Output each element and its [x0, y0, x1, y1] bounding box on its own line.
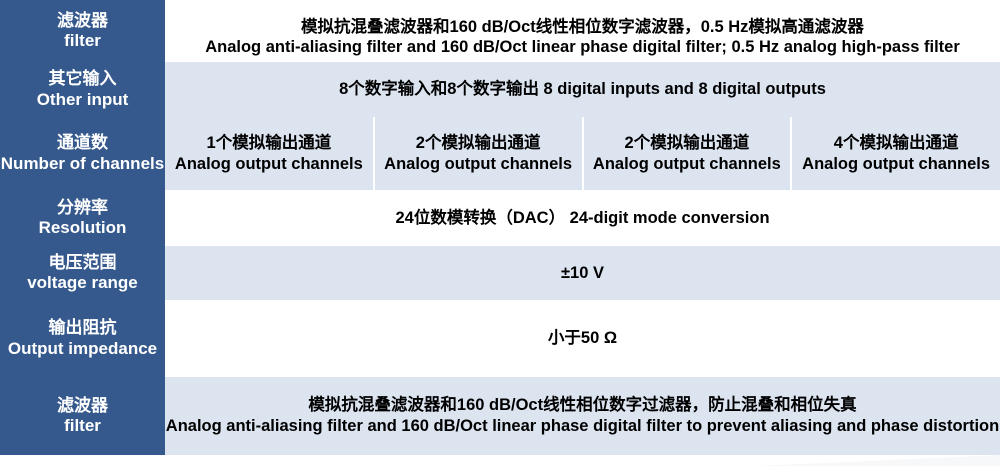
cell-text-cn: 模拟抗混叠滤波器和160 dB/Oct线性相位数字滤波器，0.5 Hz模拟高通滤…	[165, 17, 1000, 38]
cell-text-cn: 2个模拟输出通道	[584, 133, 791, 154]
row-header-filter-bottom: 滤波器 filter	[0, 377, 165, 455]
table-row: 电压范围 voltage range ±10 V	[0, 246, 1000, 300]
table-row: 通道数 Number of channels 1个模拟输出通道 Analog o…	[0, 117, 1000, 190]
cell-text-cn: 4个模拟输出通道	[792, 133, 1000, 154]
cell-channels-col-1: 1个模拟输出通道 Analog output channels	[165, 117, 374, 190]
row-header-label-en: filter	[0, 416, 165, 436]
row-header-other-input: 其它输入 Other input	[0, 62, 165, 117]
cell-filter-top-value: 模拟抗混叠滤波器和160 dB/Oct线性相位数字滤波器，0.5 Hz模拟高通滤…	[165, 0, 1000, 62]
row-header-label-cn: 分辨率	[0, 198, 165, 218]
row-header-filter-top: 滤波器 filter	[0, 0, 165, 62]
spec-table-page: 滤波器 filter 模拟抗混叠滤波器和160 dB/Oct线性相位数字滤波器，…	[0, 0, 1000, 466]
row-header-label-cn: 滤波器	[0, 11, 165, 31]
cell-resolution-value: 24位数模转换（DAC） 24-digit mode conversion	[165, 190, 1000, 246]
table-row: 滤波器 filter 模拟抗混叠滤波器和160 dB/Oct线性相位数字过滤器，…	[0, 377, 1000, 455]
cell-text-en: Analog output channels	[165, 154, 373, 175]
row-header-voltage-range: 电压范围 voltage range	[0, 246, 165, 300]
cell-channels-col-4: 4个模拟输出通道 Analog output channels	[791, 117, 1000, 190]
table-body: 滤波器 filter 模拟抗混叠滤波器和160 dB/Oct线性相位数字滤波器，…	[0, 0, 1000, 455]
table-row: 输出阻抗 Output impedance 小于50 Ω	[0, 300, 1000, 377]
cell-channels-col-3: 2个模拟输出通道 Analog output channels	[583, 117, 792, 190]
row-header-output-impedance: 输出阻抗 Output impedance	[0, 300, 165, 377]
row-header-label-en: Other input	[0, 90, 165, 110]
table-row: 滤波器 filter 模拟抗混叠滤波器和160 dB/Oct线性相位数字滤波器，…	[0, 0, 1000, 62]
bottom-decoration	[0, 455, 1000, 466]
cell-voltage-range-value: ±10 V	[165, 246, 1000, 300]
cell-filter-bottom-value: 模拟抗混叠滤波器和160 dB/Oct线性相位数字过滤器，防止混叠和相位失真 A…	[165, 377, 1000, 455]
cell-text-cn: 1个模拟输出通道	[165, 133, 373, 154]
row-header-label-en: Number of channels	[0, 154, 165, 174]
bottom-decoration-band	[0, 455, 760, 466]
cell-text: 小于50 Ω	[165, 328, 1000, 349]
row-header-label-cn: 输出阻抗	[0, 318, 165, 338]
bottom-decoration-wedge	[740, 455, 1000, 466]
cell-text-en: Analog output channels	[792, 154, 1000, 175]
table-row: 分辨率 Resolution 24位数模转换（DAC） 24-digit mod…	[0, 190, 1000, 246]
row-header-label-en: Output impedance	[0, 339, 165, 359]
table-row: 其它输入 Other input 8个数字输入和8个数字输出 8 digital…	[0, 62, 1000, 117]
cell-text: 8个数字输入和8个数字输出 8 digital inputs and 8 dig…	[165, 79, 1000, 100]
cell-other-input-value: 8个数字输入和8个数字输出 8 digital inputs and 8 dig…	[165, 62, 1000, 117]
cell-channels-col-2: 2个模拟输出通道 Analog output channels	[374, 117, 583, 190]
cell-text-cn: 2个模拟输出通道	[375, 133, 582, 154]
row-header-label-cn: 其它输入	[0, 69, 165, 89]
cell-text: 24位数模转换（DAC） 24-digit mode conversion	[165, 208, 1000, 229]
cell-text-en: Analog output channels	[584, 154, 791, 175]
cell-text: ±10 V	[165, 263, 1000, 284]
row-header-label-en: filter	[0, 31, 165, 51]
row-header-number-of-channels: 通道数 Number of channels	[0, 117, 165, 190]
specification-table: 滤波器 filter 模拟抗混叠滤波器和160 dB/Oct线性相位数字滤波器，…	[0, 0, 1000, 455]
cell-text-en: Analog output channels	[375, 154, 582, 175]
row-header-resolution: 分辨率 Resolution	[0, 190, 165, 246]
cell-text-en: Analog anti-aliasing filter and 160 dB/O…	[165, 416, 1000, 437]
cell-output-impedance-value: 小于50 Ω	[165, 300, 1000, 377]
cell-text-en: Analog anti-aliasing filter and 160 dB/O…	[165, 37, 1000, 58]
cell-text-cn: 模拟抗混叠滤波器和160 dB/Oct线性相位数字过滤器，防止混叠和相位失真	[165, 395, 1000, 416]
row-header-label-en: voltage range	[0, 273, 165, 293]
row-header-label-cn: 通道数	[0, 133, 165, 153]
row-header-label-cn: 滤波器	[0, 396, 165, 416]
row-header-label-en: Resolution	[0, 218, 165, 238]
row-header-label-cn: 电压范围	[0, 253, 165, 273]
